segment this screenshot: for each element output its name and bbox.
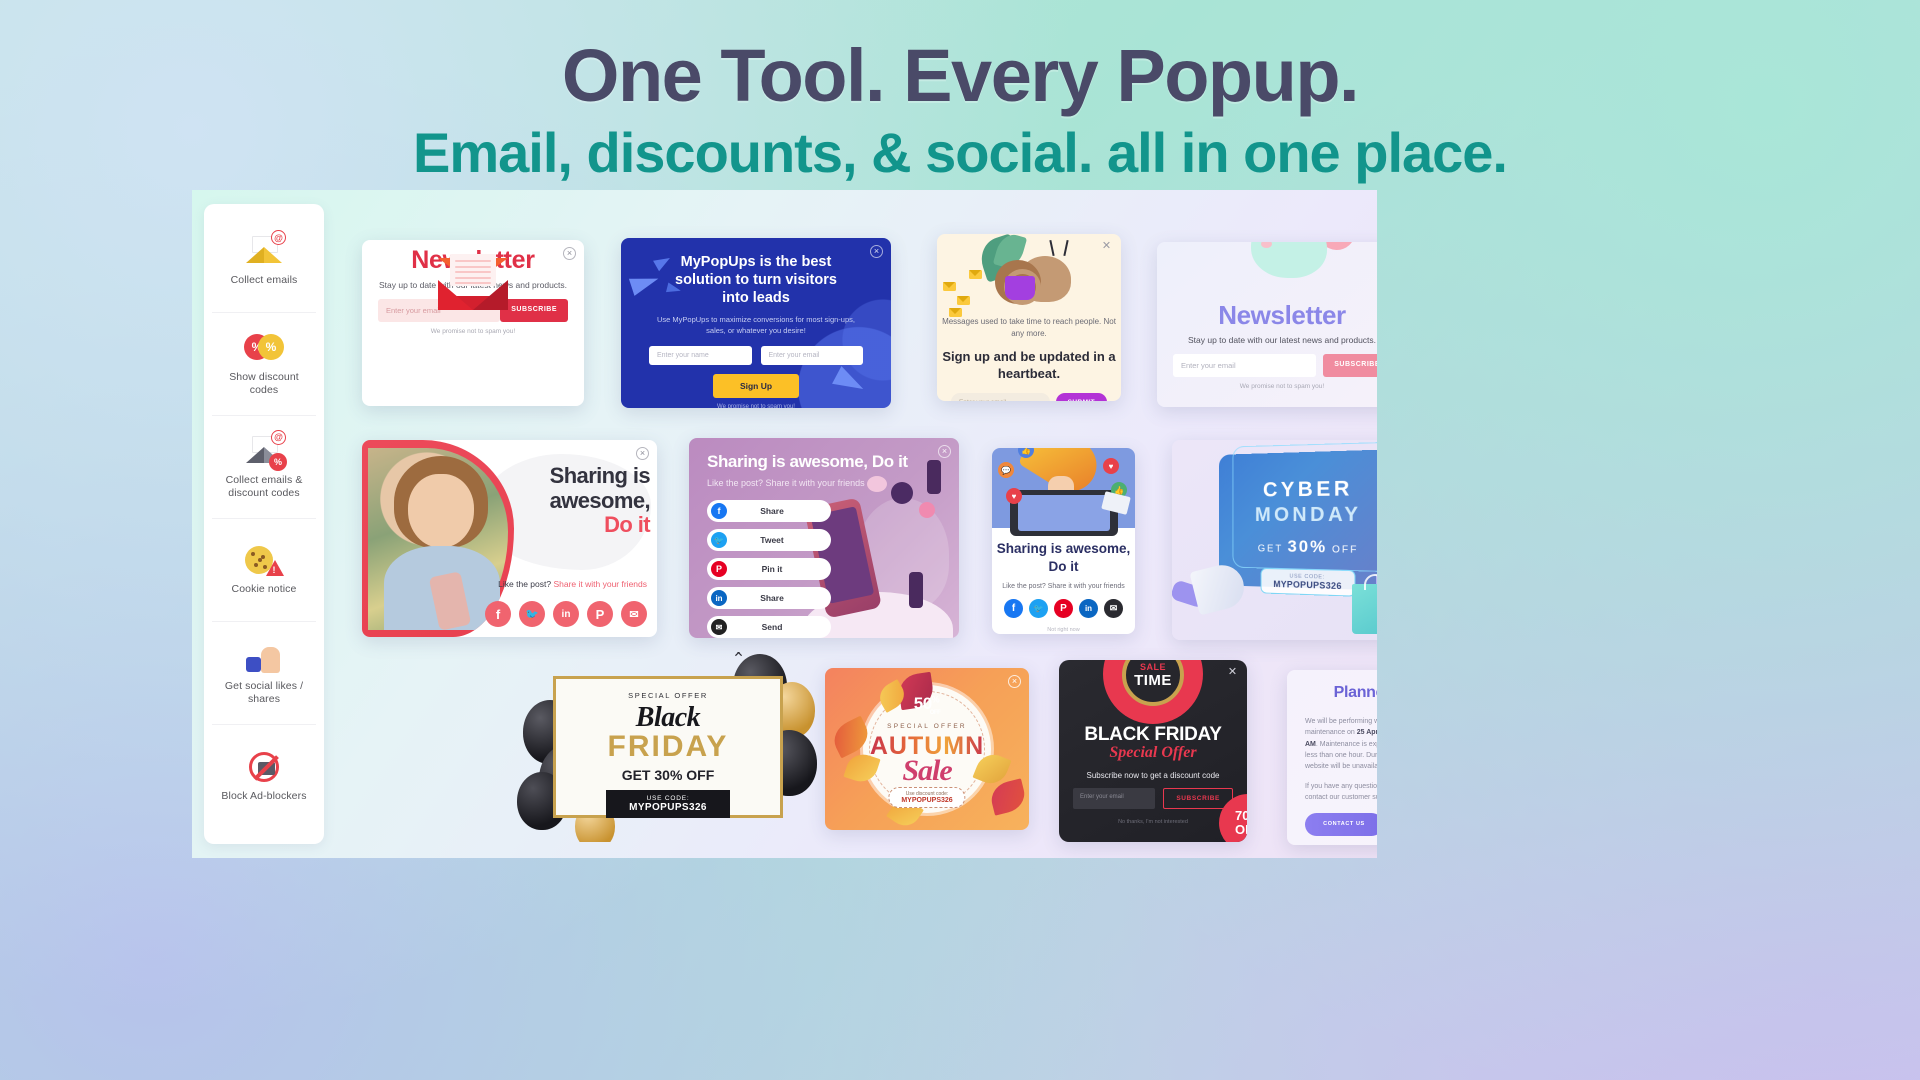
share-button-facebook[interactable]: f Share [707, 500, 831, 522]
discount-badge-icon: % % [244, 331, 284, 365]
share-button-label: Tweet [727, 535, 817, 545]
close-icon[interactable]: × [563, 247, 576, 260]
share-button-label: Share [727, 506, 817, 516]
popup-title: Sharing is awesome, Do it [992, 540, 1135, 575]
name-input[interactable]: Enter your name [649, 346, 752, 365]
popup-card-sharing-purple[interactable]: × Sharing is awesome, Do it Like the pos… [689, 438, 959, 638]
pinterest-icon[interactable]: P [1054, 599, 1073, 618]
twitter-icon: 🐦 [711, 532, 727, 548]
clock-line-2: TIME [1134, 672, 1172, 689]
close-icon[interactable]: × [938, 445, 951, 458]
code-value: MYPOPUPS326 [606, 802, 730, 813]
linkedin-icon[interactable]: in [553, 601, 579, 627]
share-button-label: Pin it [727, 564, 817, 574]
sidebar-item-show-discount-codes[interactable]: % % Show discount codes [212, 313, 316, 416]
popup-card-planned-maintenance[interactable]: ✕ Planned maintenance We will be perform… [1287, 670, 1377, 845]
bird-illustration [1229, 242, 1349, 298]
close-icon[interactable]: × [1008, 675, 1021, 688]
paper-plane-icon [629, 270, 661, 296]
sidebar-item-label: Get social likes / shares [214, 680, 314, 706]
discount-code-box[interactable]: Use discount code: MYPOPUPS326 [888, 787, 965, 808]
popup-title: MyPopUps is the best solution to turn vi… [667, 253, 845, 307]
share-button-label: Share [727, 593, 817, 603]
discount-code-box[interactable]: USE CODE: MYPOPUPS326 [1261, 568, 1356, 597]
mini-envelope-icon [949, 308, 962, 317]
hero-heading-block: One Tool. Every Popup. Email, discounts,… [0, 36, 1920, 184]
open-envelope-icon [438, 258, 508, 310]
sidebar-item-block-adblockers[interactable]: Block Ad-blockers [212, 725, 316, 828]
page-subtitle: Email, discounts, & social. all in one p… [0, 122, 1920, 184]
close-icon[interactable]: × [870, 245, 883, 258]
title-line-2: awesome, [550, 488, 650, 513]
sidebar-item-cookie-notice[interactable]: Cookie notice [212, 519, 316, 622]
social-buttons: f 🐦 P in ✉ [992, 599, 1135, 618]
popup-card-snail-cream[interactable]: ✕ Messages used to take time to reach pe… [937, 234, 1121, 401]
popup-card-sharing-megaphone[interactable]: ✕ 💬 ♥ ♥ 👍 👍 Sharing is awesome, Do it Li… [992, 448, 1135, 634]
share-button-linkedin[interactable]: in Share [707, 587, 831, 609]
popup-title: Newsletter [1157, 300, 1377, 331]
popup-card-newsletter-bird[interactable]: Newsletter Stay up to date with our late… [1157, 242, 1377, 407]
popup-subtitle: Stay up to date with our latest news and… [1157, 335, 1377, 345]
pinterest-icon[interactable]: P [587, 601, 613, 627]
sidebar-item-social-likes[interactable]: Get social likes / shares [212, 622, 316, 725]
mini-envelope-icon [943, 282, 956, 291]
mini-envelope-icon [957, 296, 970, 305]
percent-symbol: % [932, 694, 940, 704]
facebook-icon[interactable]: f [1004, 599, 1023, 618]
popup-card-mypopups-blue[interactable]: × MyPopUps is the best solution to turn … [621, 238, 891, 408]
subscribe-button[interactable]: SUBSCRIBE [1323, 354, 1377, 377]
thumbs-up-icon [244, 640, 284, 674]
sidebar-item-collect-emails-discount[interactable]: @ % Collect emails & discount codes [212, 416, 316, 519]
envelope-discount-icon: @ % [244, 434, 284, 468]
close-icon[interactable]: × [636, 447, 649, 460]
facebook-icon[interactable]: f [485, 601, 511, 627]
popup-card-black-friday-sale-time[interactable]: ✕ SALE TIME BLACK FRIDAY Special Offer S… [1059, 660, 1247, 842]
mini-envelope-icon [969, 270, 982, 279]
close-icon[interactable]: ✕ [732, 652, 745, 661]
share-button-label: Send [727, 622, 817, 632]
badge-label: OFF [1235, 823, 1247, 837]
discount-percent: 50%OFF [914, 694, 941, 716]
special-offer-label: SPECIAL OFFER [887, 723, 967, 730]
envelope-at-icon: @ [244, 234, 284, 268]
like-prompt: Like the post? Share it with your friend… [992, 583, 1135, 590]
email-icon[interactable]: ✉ [1104, 599, 1123, 618]
popup-cards-area: × Newsletter Stay up to date with our la… [337, 190, 1377, 858]
sidebar-item-label: Show discount codes [214, 371, 314, 397]
subscribe-button[interactable]: SUBSCRIBE [500, 299, 568, 322]
subscribe-button[interactable]: SUBSCRIBE [1163, 788, 1233, 809]
snail-illustration [977, 242, 1077, 316]
popup-title: BLACK FRIDAY [1059, 724, 1247, 746]
title-line-3: Do it [518, 513, 650, 538]
special-offer-label: Special Offer [1059, 744, 1247, 762]
social-buttons: f 🐦 in P ✉ [485, 601, 647, 627]
code-label: USE CODE: [606, 795, 730, 802]
contact-us-button[interactable]: CONTACT US [1305, 813, 1377, 835]
no-thanks-link[interactable]: Not right now [992, 627, 1135, 633]
twitter-icon[interactable]: 🐦 [519, 601, 545, 627]
like-link[interactable]: Share it with your friends [553, 579, 647, 589]
sidebar-item-label: Collect emails [231, 274, 298, 287]
email-input[interactable]: Enter your email [1073, 788, 1155, 809]
title-line-1: Sharing is [550, 463, 650, 488]
popup-title: Sign up and be updated in a heartbeat. [937, 349, 1121, 383]
popup-card-cyber-monday[interactable]: × CYBER MONDAY GET 30% OFF USE CODE: MYP… [1172, 440, 1377, 640]
block-ads-icon [244, 750, 284, 784]
body-part-c: . Maintenance is expected to take less t… [1305, 741, 1377, 771]
megaphone-illustration: 💬 ♥ ♥ 👍 👍 [992, 448, 1135, 528]
facebook-icon: f [711, 503, 727, 519]
email-input[interactable]: Enter your email [951, 393, 1050, 401]
linkedin-icon: in [711, 590, 727, 606]
email-input[interactable]: Enter your email [761, 346, 864, 365]
special-offer-label: SPECIAL OFFER [556, 691, 780, 700]
twitter-icon[interactable]: 🐦 [1029, 599, 1048, 618]
popup-title: Planned maintenance [1287, 684, 1377, 702]
share-button-pinterest[interactable]: P Pin it [707, 558, 831, 580]
submit-button[interactable]: SUBMIT [1056, 393, 1107, 401]
popup-card-sharing-photo[interactable]: × Sharing is awesome, Do it Like the pos… [362, 440, 657, 637]
spam-promise: We promise not to spam you! [621, 404, 891, 408]
maintenance-paragraph-2: If you have any questions, please contac… [1305, 781, 1377, 804]
close-icon[interactable]: ✕ [1226, 667, 1239, 680]
sidebar-item-label: Collect emails & discount codes [214, 474, 314, 500]
leaf-icon [988, 778, 1028, 815]
badge-value: 70% [1235, 809, 1247, 823]
code-value: MYPOPUPS326 [1262, 579, 1355, 592]
friday-word: FRIDAY [556, 730, 780, 764]
sidebar-item-label: Block Ad-blockers [221, 790, 306, 803]
email-icon: ✉ [711, 619, 727, 635]
offer-text: GET 30% OFF [556, 767, 780, 783]
like-prompt: Like the post? Share it with your friend… [498, 579, 647, 589]
email-icon[interactable]: ✉ [621, 601, 647, 627]
linkedin-icon[interactable]: in [1079, 599, 1098, 618]
like-prefix: Like the post? [498, 579, 553, 589]
page-title: One Tool. Every Popup. [0, 36, 1920, 116]
black-friday-frame: SPECIAL OFFER Black FRIDAY GET 30% OFF U… [553, 676, 783, 818]
clock-line-1: SALE [1140, 662, 1166, 672]
share-button-twitter[interactable]: 🐦 Tweet [707, 529, 831, 551]
code-value: MYPOPUPS326 [901, 797, 952, 804]
spam-promise: We promise not to spam you! [1157, 383, 1377, 390]
sidebar-item-label: Cookie notice [232, 583, 297, 596]
popup-subtitle: Messages used to take time to reach peop… [937, 316, 1121, 340]
popup-card-black-friday-balloons[interactable]: SPECIAL OFFER Black FRIDAY GET 30% OFF U… [517, 652, 817, 842]
paper-plane-icon [832, 366, 868, 398]
popup-card-autumn-sale[interactable]: × 50%OFF SPECIAL OFFER AUTUMN Sale Use d… [825, 668, 1029, 830]
decorative-outline [1232, 441, 1377, 572]
cookie-warning-icon [244, 543, 284, 577]
email-input[interactable]: Enter your email [1173, 354, 1316, 377]
share-button-email[interactable]: ✉ Send [707, 616, 831, 638]
discount-code-box[interactable]: USE CODE: MYPOPUPS326 [606, 790, 730, 818]
popup-type-sidebar: @ Collect emails % % Show discount codes… [204, 204, 324, 844]
sidebar-item-collect-emails[interactable]: @ Collect emails [212, 210, 316, 313]
popup-card-newsletter-red[interactable]: × Newsletter Stay up to date with our la… [362, 240, 584, 406]
shopping-bag-icon [1352, 584, 1377, 634]
popup-subtitle: Subscribe now to get a discount code [1059, 771, 1247, 780]
popup-body: We will be performing website maintenanc… [1305, 716, 1377, 803]
spam-promise: We promise not to spam you! [362, 328, 584, 335]
pinterest-icon: P [711, 561, 727, 577]
signup-button[interactable]: Sign Up [713, 374, 799, 398]
popup-title: Sharing is awesome, Do it [518, 464, 650, 538]
popup-gallery-panel: @ Collect emails % % Show discount codes… [192, 190, 1377, 858]
close-icon[interactable]: ✕ [1100, 241, 1113, 254]
megaphone-icon [1172, 566, 1244, 612]
popup-subtitle: Use MyPopUps to maximize conversions for… [651, 315, 861, 337]
maintenance-paragraph-1: We will be performing website maintenanc… [1305, 716, 1377, 773]
sale-word: Sale [902, 754, 951, 788]
percent-off: OFF [930, 710, 941, 716]
